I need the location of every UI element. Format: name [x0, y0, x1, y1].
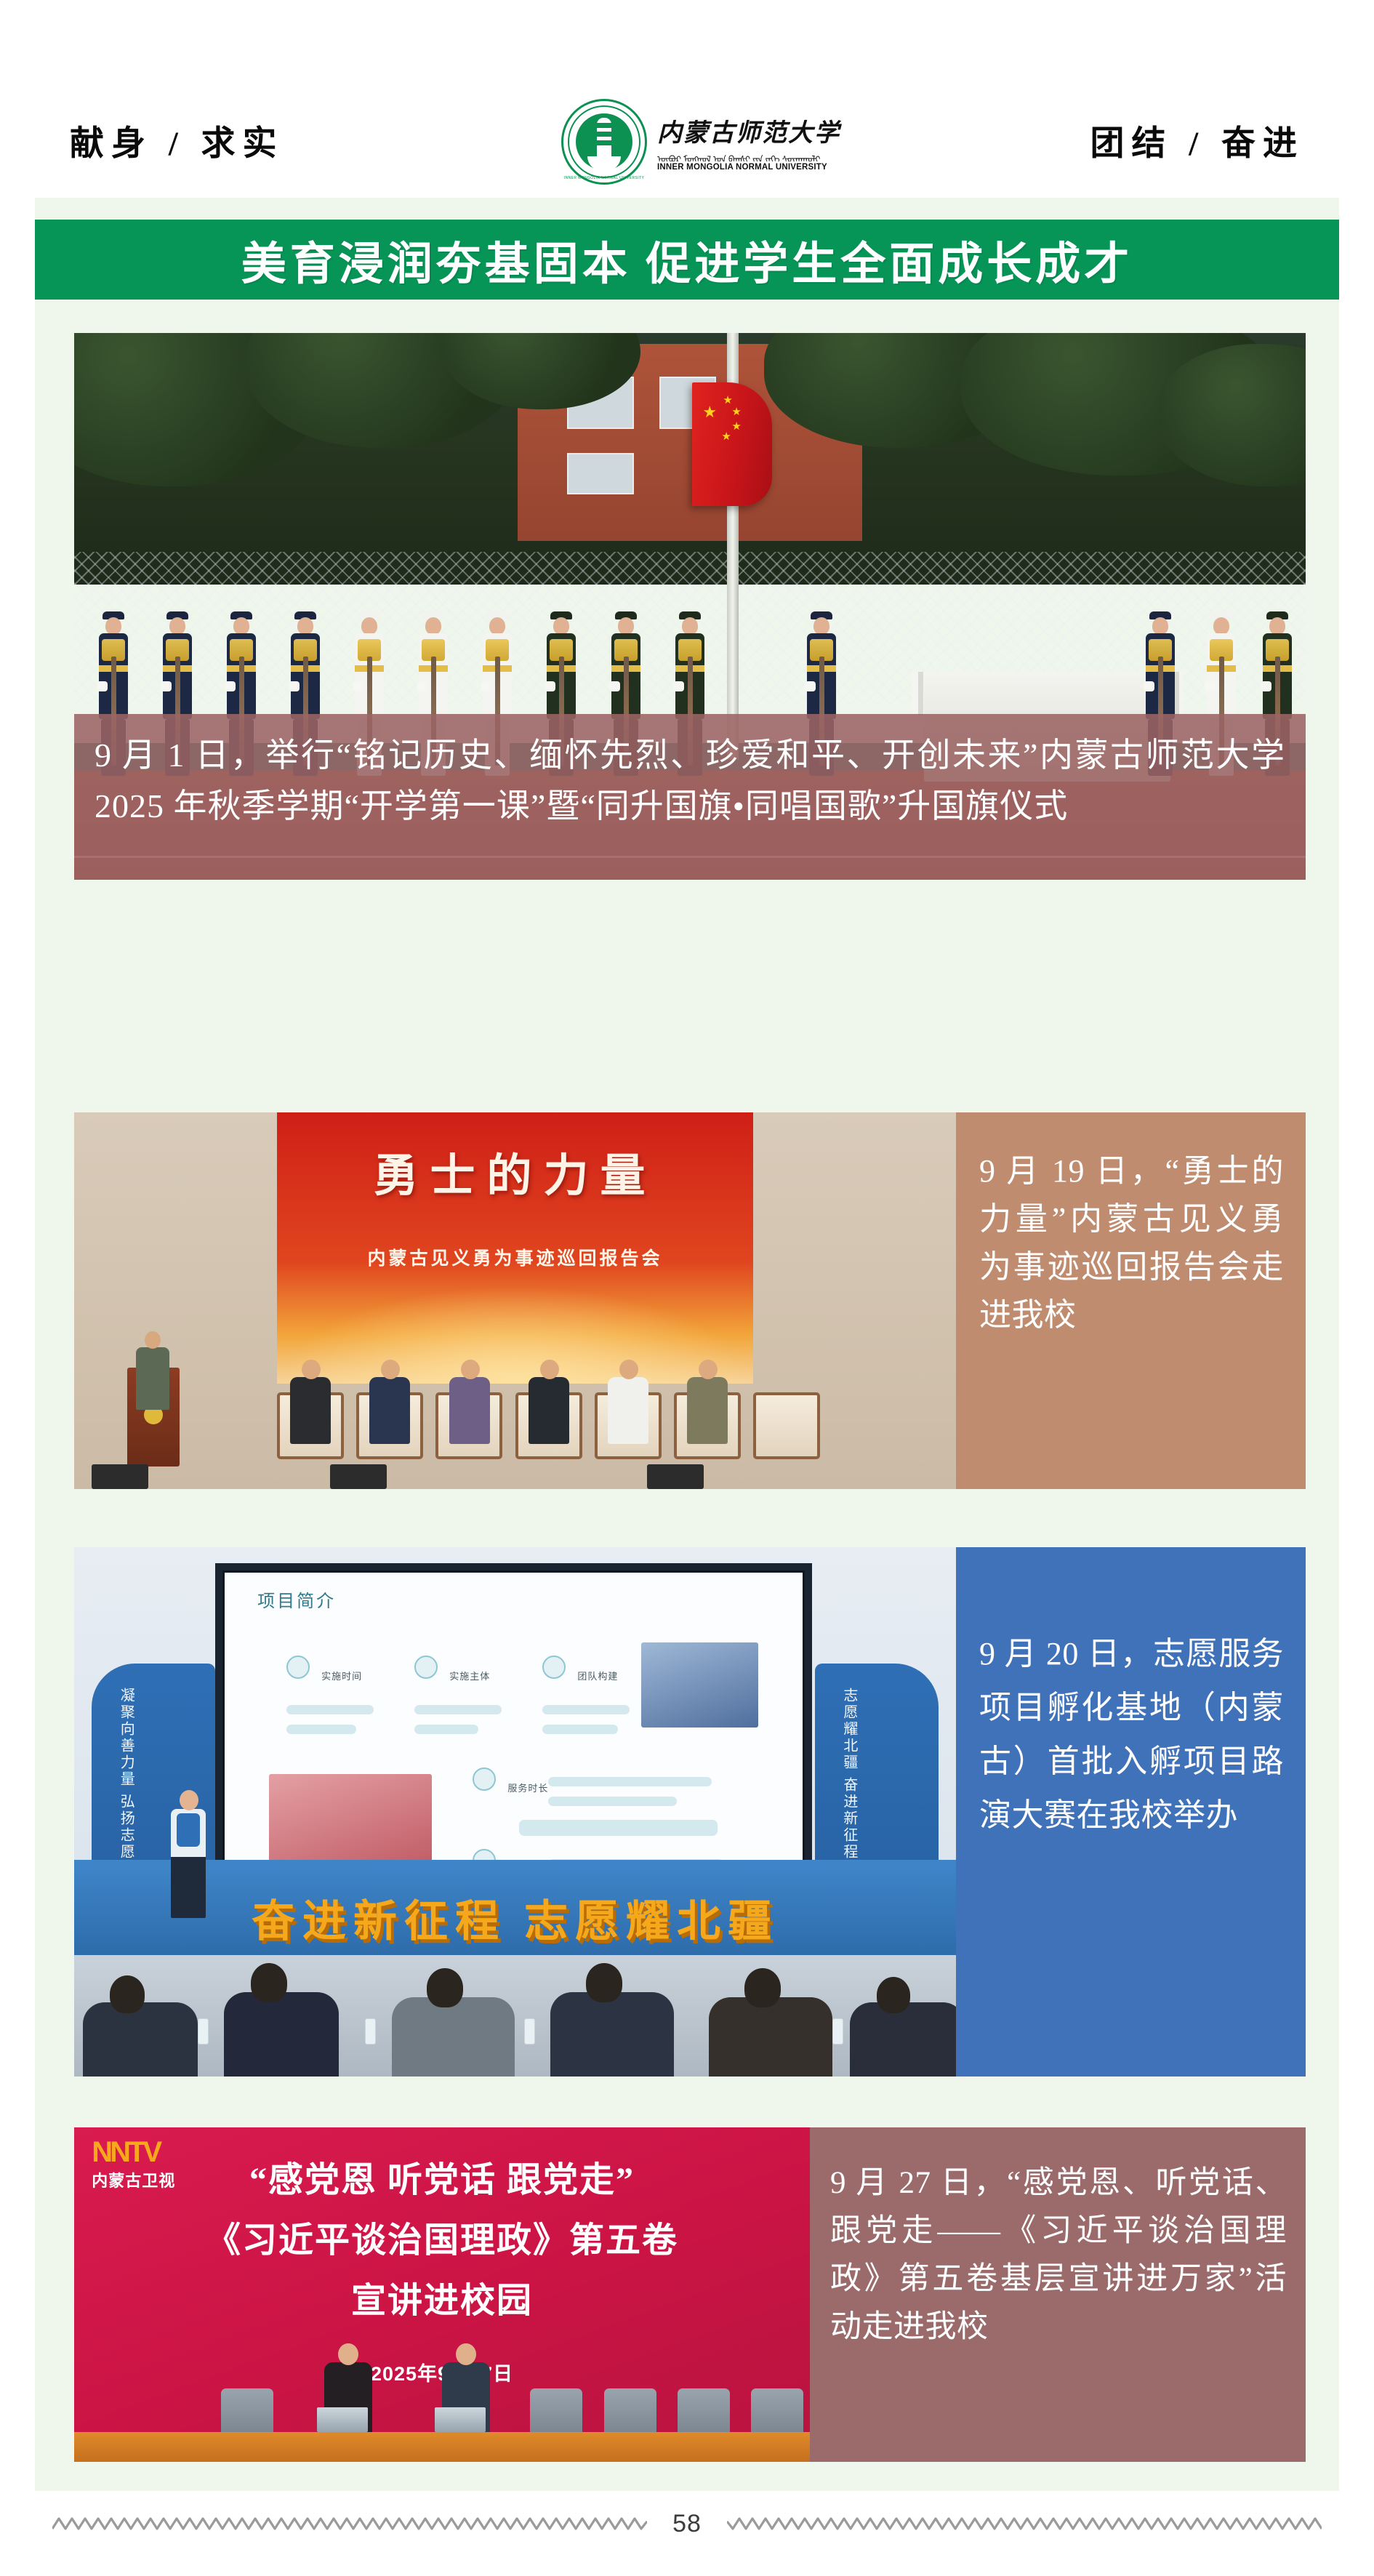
photo-headline-2: 勇士的力量	[277, 1139, 753, 1204]
story-block-1: ★ ★ ★ ★ ★	[74, 333, 1306, 880]
story-caption-4: 9 月 27 日，“感党恩、听党话、跟党走——《习近平谈治国理政》第五卷基层宣讲…	[810, 2127, 1306, 2462]
slide-item-0: 实施时间	[321, 1669, 362, 1682]
backdrop-line-2: 《习近平谈治国理政》第五卷	[74, 2211, 810, 2262]
story-block-2: 勇士的力量 内蒙古见义勇为事迹巡回报告会	[74, 1112, 1306, 1489]
story-caption-text-1: 9 月 1 日，举行“铭记历史、缅怀先烈、珍爱和平、开创未来”内蒙古师范大学 2…	[95, 730, 1285, 832]
story-caption-2: 9 月 19 日，“勇士的力量”内蒙古见义勇为事迹巡回报告会走进我校	[956, 1112, 1306, 1489]
backdrop-line-1: “感党恩 听党话 跟党走”	[74, 2151, 810, 2202]
page-header: 献身 / 求实 INNER MONGOLIA NORMAL UNIVERSITY…	[0, 0, 1374, 198]
logo-name-mongolian: ᠦᠪᠦᠷ ᠮᠣᠩᠭᠣᠯ ᠤᠨ ᠪᠠᠭᠰᠢ ᠶᠢᠨ ᠶᠡᠬᠡ ᠰᠤᠷᠭᠠᠭᠤᠯᠢ	[657, 150, 840, 161]
header-slogan-right: 团结 / 奋进	[1090, 115, 1304, 165]
story-photo-party-lecture: NNTV 内蒙古卫视 “感党恩 听党话 跟党走” 《习近平谈治国理政》第五卷 宣…	[74, 2127, 810, 2462]
logo-name-chinese: 内蒙古师范大学	[657, 113, 840, 148]
story-caption-text-4: 9 月 27 日，“感党恩、听党话、跟党走——《习近平谈治国理政》第五卷基层宣讲…	[830, 2159, 1287, 2351]
page-footer: 58	[0, 2494, 1374, 2576]
logo-wordmark: 内蒙古师范大学 ᠦᠪᠦᠷ ᠮᠣᠩᠭᠣᠯ ᠤᠨ ᠪᠠᠭᠰᠢ ᠶᠢᠨ ᠶᠡᠬᠡ ᠰᠤ…	[657, 113, 840, 172]
university-seal-icon: INNER MONGOLIA NORMAL UNIVERSITY	[561, 99, 647, 185]
story-block-4: NNTV 内蒙古卫视 “感党恩 听党话 跟党走” 《习近平谈治国理政》第五卷 宣…	[74, 2127, 1306, 2462]
story-photo-volunteer-roadshow: 项目简介 实施时间 实施主体 团队构建 服务时长 团队优势	[74, 1547, 956, 2077]
stage-banner-right: 志愿耀北疆 奋进新征程	[840, 1688, 859, 1861]
story-caption-text-2: 9 月 19 日，“勇士的力量”内蒙古见义勇为事迹巡回报告会走进我校	[979, 1147, 1284, 1339]
footer-zigzag-right	[727, 2514, 1322, 2533]
section-title: 美育浸润夯基固本 促进学生全面成长成才	[241, 227, 1133, 292]
stage-3d-text: 奋进新征程 志愿耀北疆	[110, 1886, 921, 1949]
header-slogan-left: 献身 / 求实	[70, 115, 284, 165]
slide-item-2: 团队构建	[577, 1669, 618, 1682]
story-caption-1: 9 月 1 日，举行“铭记历史、缅怀先烈、珍爱和平、开创未来”内蒙古师范大学 2…	[74, 714, 1306, 880]
section-title-banner: 美育浸润夯基固本 促进学生全面成长成才	[35, 220, 1339, 300]
story-caption-3: 9 月 20 日，志愿服务项目孵化基地（内蒙古）首批入孵项目路演大赛在我校举办	[956, 1547, 1306, 2077]
photo-subhead-2: 内蒙古见义勇为事迹巡回报告会	[277, 1244, 753, 1270]
logo-name-english: INNER MONGOLIA NORMAL UNIVERSITY	[657, 163, 840, 172]
slide-item-1: 实施主体	[449, 1669, 490, 1682]
slide-item-3: 服务时长	[507, 1781, 548, 1794]
story-block-3: 项目简介 实施时间 实施主体 团队构建 服务时长 团队优势	[74, 1547, 1306, 2077]
university-logo: INNER MONGOLIA NORMAL UNIVERSITY 内蒙古师范大学…	[561, 90, 816, 193]
seal-english-text: INNER MONGOLIA NORMAL UNIVERSITY	[561, 176, 647, 180]
backdrop-line-3: 宣讲进校园	[74, 2271, 810, 2322]
slide-title: 项目简介	[257, 1586, 336, 1612]
story-caption-text-3: 9 月 20 日，志愿服务项目孵化基地（内蒙古）首批入孵项目路演大赛在我校举办	[979, 1627, 1284, 1842]
story-photo-heroes-lecture: 勇士的力量 内蒙古见义勇为事迹巡回报告会	[74, 1112, 956, 1489]
newsletter-page: 献身 / 求实 INNER MONGOLIA NORMAL UNIVERSITY…	[0, 0, 1374, 2576]
